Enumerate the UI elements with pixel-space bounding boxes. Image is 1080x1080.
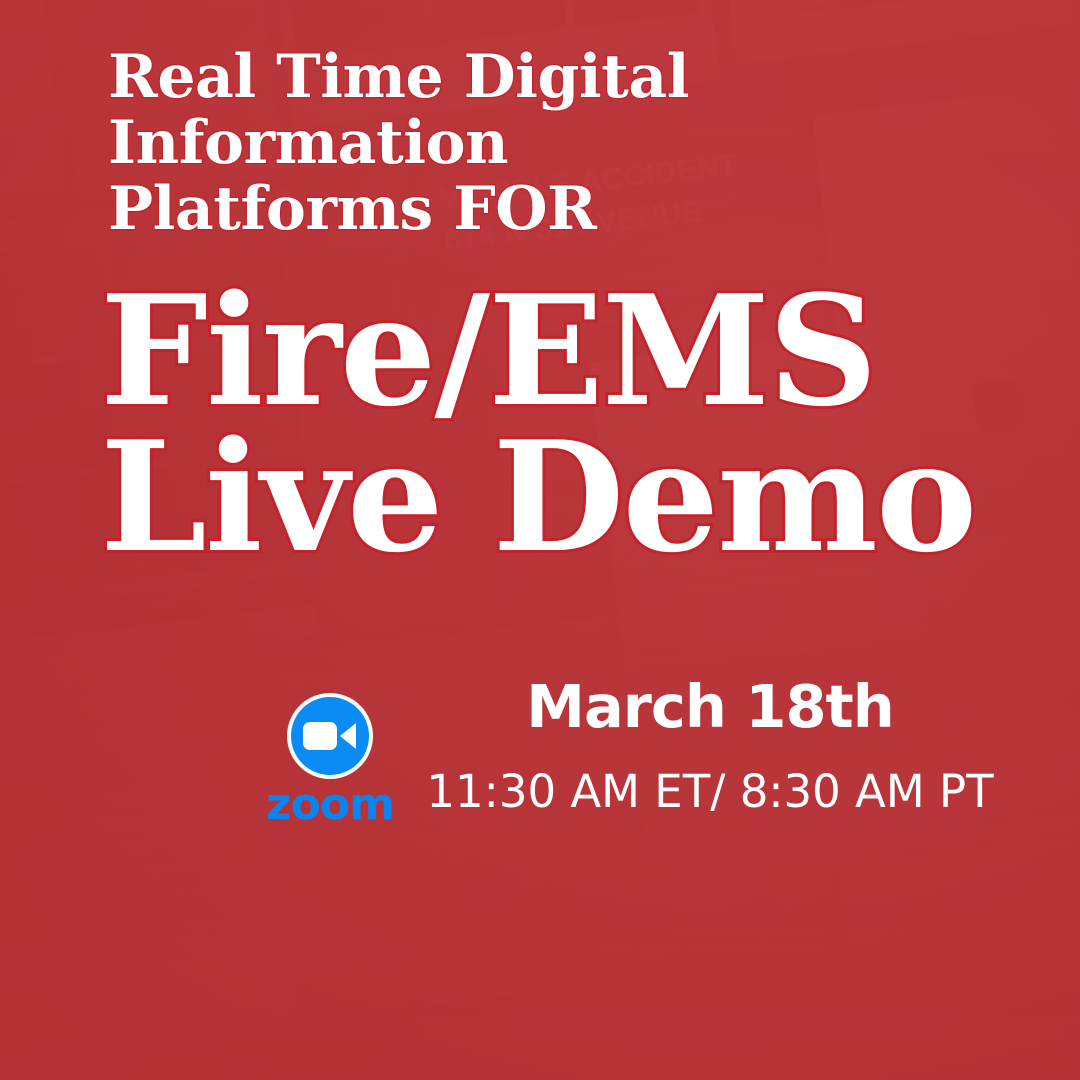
headline-line-2: Information xyxy=(108,110,828,176)
zoom-logo: zoom xyxy=(262,693,398,825)
title-line-1: Fire/EMS xyxy=(100,278,1000,424)
zoom-wordmark: zoom xyxy=(262,783,398,827)
headline-block: Real Time Digital Information Platforms … xyxy=(108,44,828,242)
headline-line-3: Platforms FOR xyxy=(108,176,828,242)
zoom-logo-circle xyxy=(287,693,373,779)
title-line-2: Live Demo xyxy=(100,424,1000,570)
headline-line-1: Real Time Digital xyxy=(108,44,828,110)
promo-poster: Welcome Newly Assigned SHIFT C ACTIVELY … xyxy=(0,0,1080,1080)
page-title: Fire/EMS Live Demo xyxy=(100,278,1000,570)
video-camera-icon xyxy=(302,719,358,753)
poster-content: Real Time Digital Information Platforms … xyxy=(0,0,1080,1080)
event-time: 11:30 AM ET/ 8:30 AM PT xyxy=(400,766,1020,818)
event-date: March 18th xyxy=(420,676,1000,738)
